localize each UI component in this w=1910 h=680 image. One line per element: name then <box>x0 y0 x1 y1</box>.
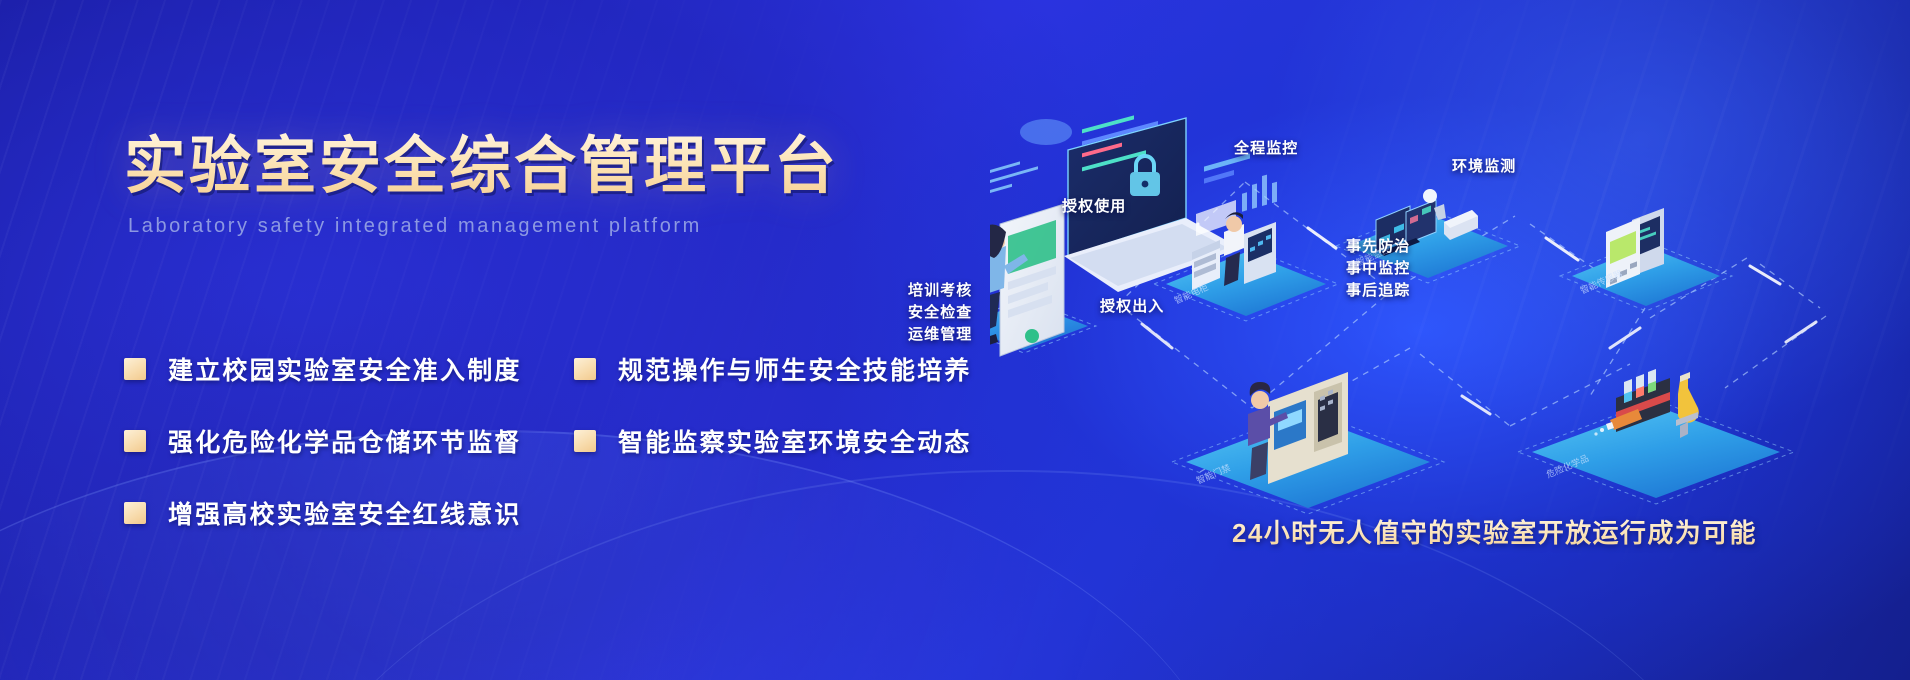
node-label-auth-use: 授权使用 <box>1062 196 1126 218</box>
node-label-training: 培训考核 安全检查 运维管理 <box>908 280 972 345</box>
page-title: 实验室安全综合管理平台 <box>124 132 1004 201</box>
list-item: 增强高校实验室安全红线意识 <box>124 477 574 549</box>
diagram-tagline: 24小时无人值守的实验室开放运行成为可能 <box>1232 513 1757 550</box>
node-auth-entry: 智能门禁 <box>1172 372 1444 514</box>
list-item-empty <box>574 477 1004 549</box>
node-label-monitoring: 全程监控 <box>1234 138 1298 160</box>
square-bullet-icon <box>124 358 146 380</box>
feature-row: 建立校园实验室安全准入制度 规范操作与师生安全技能培养 <box>124 333 1024 405</box>
list-item: 建立校园实验室安全准入制度 <box>124 333 574 405</box>
feature-label: 增强高校实验室安全红线意识 <box>168 495 522 531</box>
node-label-environment: 环境监测 <box>1452 156 1516 178</box>
feature-label: 智能监察实验室环境安全动态 <box>618 423 972 459</box>
headline-block: 实验室安全综合管理平台 Laboratory safety integrated… <box>124 132 1004 238</box>
node-environment: 智能传感器 <box>1560 208 1732 311</box>
square-bullet-icon <box>124 502 146 524</box>
feature-label: 强化危险化学品仓储环节监督 <box>168 423 522 459</box>
feature-row: 强化危险化学品仓储环节监督 智能监察实验室环境安全动态 <box>124 405 1024 477</box>
page-subtitle: Laboratory safety integrated management … <box>128 215 1004 238</box>
node-label-prevention: 事先防治 事中监控 事后追踪 <box>1346 236 1410 301</box>
square-bullet-icon <box>124 430 146 452</box>
square-bullet-icon <box>574 430 596 452</box>
node-prevention: 危险化学品 <box>1518 369 1794 504</box>
list-item: 强化危险化学品仓储环节监督 <box>124 405 574 477</box>
feature-list: 建立校园实验室安全准入制度 规范操作与师生安全技能培养 强化危险化学品仓储环节监… <box>124 333 1024 549</box>
node-label-auth-entry: 授权出入 <box>1100 296 1164 318</box>
feature-row: 增强高校实验室安全红线意识 <box>124 477 1024 549</box>
banner-stage: 实验室安全综合管理平台 Laboratory safety integrated… <box>0 0 1910 680</box>
feature-label: 建立校园实验室安全准入制度 <box>168 351 522 387</box>
feature-label: 规范操作与师生安全技能培养 <box>618 351 972 387</box>
square-bullet-icon <box>574 358 596 380</box>
list-item: 智能监察实验室环境安全动态 <box>574 405 1004 477</box>
